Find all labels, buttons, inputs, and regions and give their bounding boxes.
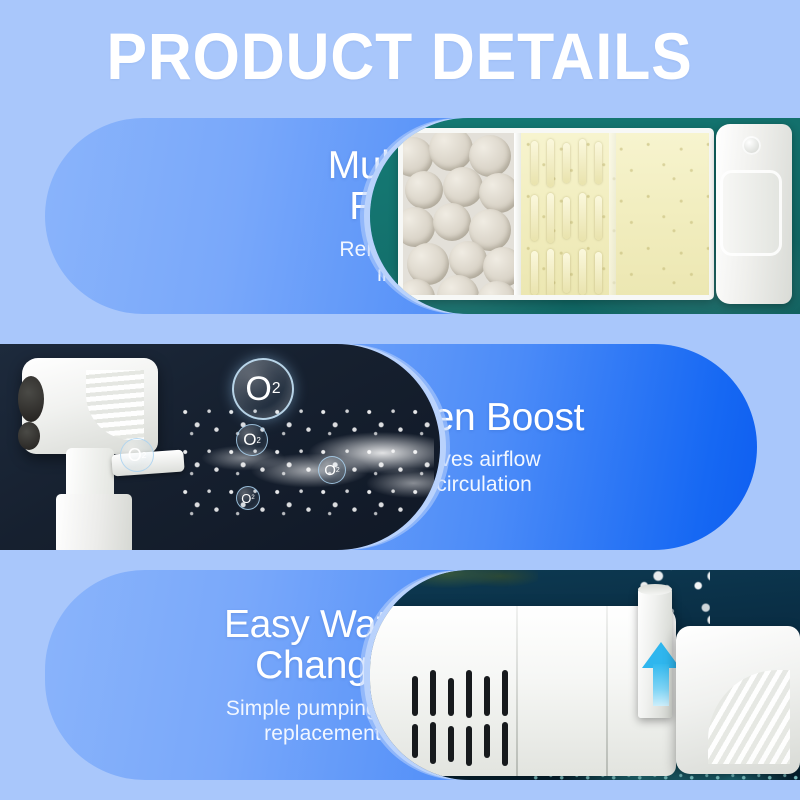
page-header: PRODUCT DETAILS [0, 0, 800, 112]
ceramic-ball-chamber [403, 133, 515, 295]
filter-scene [370, 118, 800, 314]
spray-droplets [176, 400, 434, 526]
feature-panel-multi-layer-filtration: Multi-Layer Filtration Removes dirt and … [0, 118, 800, 314]
cartridge-divider [514, 133, 521, 295]
pump-base [56, 494, 132, 550]
pump-neck [66, 448, 114, 500]
water-spray [176, 400, 434, 526]
pump-knob-lower [18, 422, 40, 450]
feature-photo-water-change [370, 570, 800, 780]
feature-panel-easy-water-change: Easy Water Change Simple pumping and rep… [0, 570, 800, 780]
pump-ring [720, 170, 782, 256]
oxygen-bubble-small-1: O2 [120, 438, 154, 472]
feature-panel-oxygen-boost: Oxygen Boost Improves airflow and circul… [0, 344, 800, 550]
oxygen-scene: O2 O2 O2 O2 O2 [0, 344, 440, 550]
oxygen-bubble-large: O2 [232, 358, 294, 420]
cartridge-divider-2 [609, 133, 616, 295]
riser-tube-mouth [638, 584, 672, 595]
feature-photo-filtration [370, 118, 800, 314]
footer-spacer [0, 780, 800, 800]
pump-seam-2 [606, 606, 608, 776]
oxygen-bubble-small-3: O2 [318, 456, 346, 484]
page-title: PRODUCT DETAILS [107, 23, 693, 89]
water-scene [370, 570, 800, 780]
pump-head [716, 124, 792, 304]
oxygen-bubble-small-4: O2 [236, 486, 260, 510]
pump-fin [86, 370, 144, 440]
oxygen-bubble-small-2: O2 [236, 424, 268, 456]
oxygen-bubble-subscript: 2 [272, 380, 281, 398]
flow-direction-arrow-icon [642, 642, 680, 706]
pump-outlet-housing [676, 626, 800, 774]
coral-background [388, 570, 538, 604]
outlet-fin [708, 670, 790, 764]
pump-screw [742, 136, 761, 155]
pump-intake-grille [412, 670, 522, 770]
feature-photo-oxygen: O2 O2 O2 O2 O2 [0, 344, 440, 550]
submersible-pump-body [370, 606, 676, 776]
filter-cartridge [398, 128, 714, 300]
pump-knob-upper [18, 376, 44, 422]
oxygen-bubble-label: O [245, 370, 271, 409]
